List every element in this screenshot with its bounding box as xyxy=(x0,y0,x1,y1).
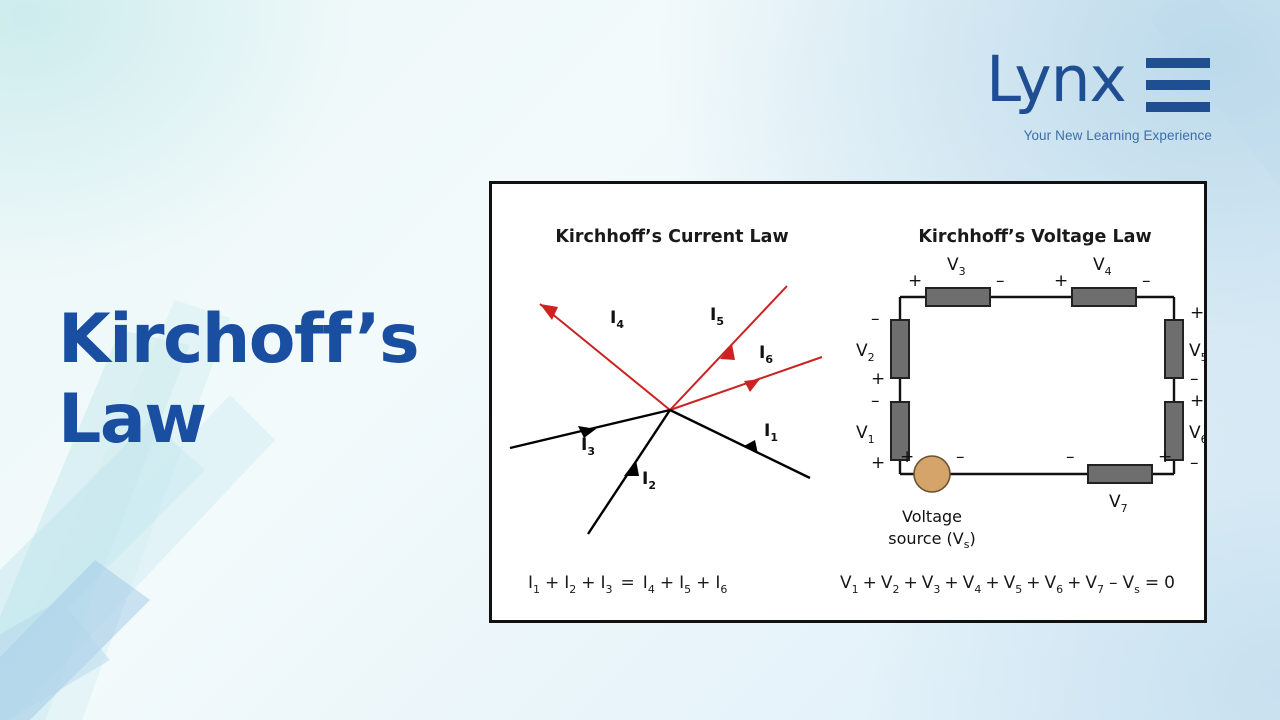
polarity-v5-minus: – xyxy=(1190,369,1199,389)
current-line-i1 xyxy=(670,410,810,478)
resistor-label-v7: V7 xyxy=(1109,492,1128,515)
polarity-v3-plus: + xyxy=(908,271,922,291)
kvl-equation: V1+V2+V3+V4+V5+V6+V7–Vs=0 xyxy=(840,573,1175,596)
polarity-v1-minus: – xyxy=(871,391,880,411)
logo-wordmark: Lynx xyxy=(986,48,1126,111)
polarity-v7-minus: – xyxy=(1066,447,1075,467)
current-label-i5: I5 xyxy=(710,305,724,328)
resistor-v3 xyxy=(926,288,990,306)
title-line-1: Kirchoff’s xyxy=(58,300,478,380)
kvl-circuit-wires xyxy=(900,297,1174,474)
kcl-outgoing-currents xyxy=(540,286,822,410)
current-line-i5 xyxy=(670,286,787,410)
title-line-2: Law xyxy=(58,380,478,460)
resistor-label-v6: V6 xyxy=(1189,423,1204,446)
kvl-title: Kirchhoff’s Voltage Law xyxy=(918,227,1151,247)
polarity-v6-minus: – xyxy=(1190,453,1199,473)
polarity-v1-plus: + xyxy=(871,453,885,473)
polarity-v6-plus: + xyxy=(1190,391,1204,411)
kcl-equation: I1+I2+I3=I4+I5+I6 xyxy=(528,573,727,596)
voltage-source-symbol xyxy=(914,456,950,492)
slide-canvas: Lynx Your New Learning Experience Kircho… xyxy=(0,0,1280,720)
resistor-v5 xyxy=(1165,320,1183,378)
kcl-title: Kirchhoff’s Current Law xyxy=(555,227,788,247)
resistor-label-v4: V4 xyxy=(1093,255,1112,278)
arrowhead-i5 xyxy=(720,344,735,360)
current-label-i6: I6 xyxy=(759,343,773,366)
voltage-source-label-line1: Voltage xyxy=(902,507,962,526)
polarity-v4-minus: – xyxy=(1142,271,1151,291)
resistor-v7 xyxy=(1088,465,1152,483)
logo-tagline: Your New Learning Experience xyxy=(1016,128,1212,143)
polarity-vs-minus: – xyxy=(956,447,965,467)
resistor-label-v2: V2 xyxy=(856,341,875,364)
polarity-v3-minus: – xyxy=(996,271,1005,291)
resistor-label-v5: V5 xyxy=(1189,341,1204,364)
current-label-i4: I4 xyxy=(610,308,624,331)
page-title: Kirchoff’s Law xyxy=(58,300,478,460)
current-label-i1: I1 xyxy=(764,421,778,444)
resistor-label-v1: V1 xyxy=(856,423,875,446)
polarity-v5-plus: + xyxy=(1190,303,1204,323)
polarity-v2-plus: + xyxy=(871,369,885,389)
current-label-i3: I3 xyxy=(581,435,595,458)
logo-bars-e-icon xyxy=(1146,58,1210,112)
kirchhoff-diagram-figure: Kirchhoff’s Current Law xyxy=(489,181,1207,623)
current-label-i2: I2 xyxy=(642,469,656,492)
resistor-v2 xyxy=(891,320,909,378)
resistor-label-v3: V3 xyxy=(947,255,966,278)
current-line-i4 xyxy=(540,304,670,410)
polarity-vs-plus: + xyxy=(900,447,914,467)
arrowhead-i6 xyxy=(744,379,760,392)
voltage-source-label-line2: source (Vs) xyxy=(888,529,975,551)
brand-logo: Lynx Your New Learning Experience xyxy=(986,46,1212,150)
arrowhead-i1 xyxy=(744,440,758,454)
resistor-v4 xyxy=(1072,288,1136,306)
polarity-v7-plus: + xyxy=(1158,447,1172,467)
polarity-v2-minus: – xyxy=(871,309,880,329)
polarity-v4-plus: + xyxy=(1054,271,1068,291)
diagram-svg: Kirchhoff’s Current Law xyxy=(492,184,1204,620)
